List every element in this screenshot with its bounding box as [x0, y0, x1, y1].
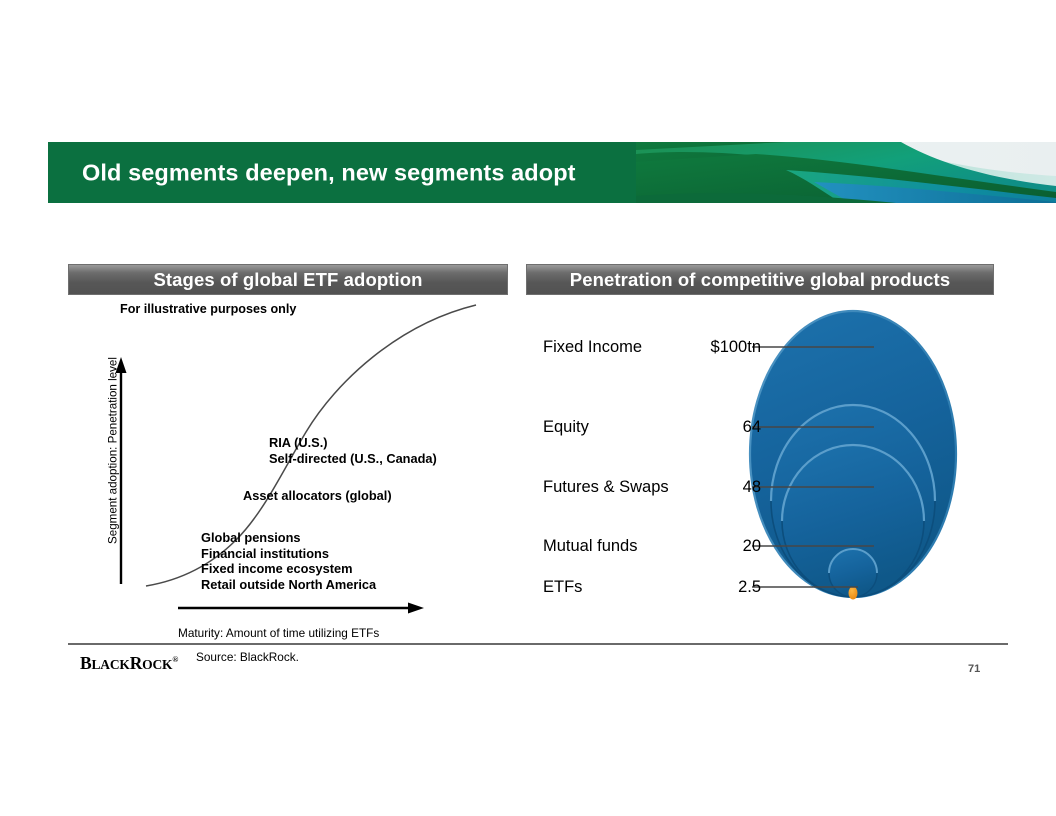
left-panel-title: Stages of global ETF adoption — [153, 269, 422, 291]
ellipse-mutual-funds-highlight — [829, 549, 877, 573]
ellipse-fixed-income — [750, 311, 956, 597]
stage-label: Financial institutions — [201, 546, 376, 562]
stage-group-early: Global pensions Financial institutions F… — [201, 530, 376, 592]
ellipse-etfs-marker — [849, 587, 858, 600]
logo-r: R — [130, 653, 142, 673]
page-title: Old segments deepen, new segments adopt — [82, 159, 576, 186]
stage-label: Retail outside North America — [201, 577, 376, 593]
product-row: Equity 64 — [543, 416, 761, 438]
registered-trademark-icon: ® — [172, 655, 178, 664]
stage-label: Fixed income ecosystem — [201, 561, 376, 577]
ellipse-equity — [771, 405, 935, 597]
product-row: Fixed Income $100tn — [543, 336, 761, 358]
x-axis-arrowhead — [408, 603, 424, 614]
x-axis-label: Maturity: Amount of time utilizing ETFs — [178, 626, 379, 640]
source-note: Source: BlackRock. — [196, 650, 299, 664]
product-penetration-chart: Fixed Income $100tn Equity 64 Futures & … — [526, 296, 996, 626]
product-value: 64 — [693, 418, 761, 437]
logo-b: B — [80, 653, 91, 673]
ellipse-equity-highlight — [771, 405, 935, 501]
ellipse-futures-swaps — [782, 445, 924, 597]
stage-label: Asset allocators (global) — [243, 488, 392, 504]
slide-title-banner: Old segments deepen, new segments adopt — [48, 142, 1056, 203]
banner-swoosh-decoration — [636, 142, 1056, 203]
page-number: 71 — [968, 663, 980, 675]
ellipse-equity-outline — [771, 405, 935, 597]
stages-of-adoption-chart: For illustrative purposes only Segment a… — [68, 296, 514, 646]
ellipse-mutual-funds-outline — [829, 549, 877, 597]
product-value: $100tn — [693, 338, 761, 357]
product-row: Futures & Swaps 48 — [543, 476, 761, 498]
ellipse-mutual-funds — [829, 549, 877, 597]
ellipse-futures-swaps-outline — [782, 445, 924, 597]
product-label: ETFs — [543, 578, 693, 597]
product-label: Equity — [543, 418, 693, 437]
product-value: 48 — [693, 478, 761, 497]
stage-group-mid: Asset allocators (global) — [243, 488, 392, 504]
product-label: Fixed Income — [543, 338, 693, 357]
product-value: 20 — [693, 537, 761, 556]
stage-group-late: RIA (U.S.) Self-directed (U.S., Canada) — [269, 435, 437, 466]
footer-divider — [68, 643, 1008, 645]
blackrock-logo: BLACKROCK® — [80, 653, 178, 674]
ellipse-fixed-income-outline — [750, 311, 956, 597]
right-panel-title: Penetration of competitive global produc… — [570, 269, 950, 291]
left-panel-header: Stages of global ETF adoption — [68, 264, 508, 295]
product-label: Mutual funds — [543, 537, 693, 556]
adoption-curve-and-axes — [68, 296, 514, 646]
stage-label: RIA (U.S.) — [269, 435, 437, 451]
ellipse-futures-swaps-highlight — [782, 445, 924, 521]
logo-ock: OCK — [142, 657, 172, 672]
logo-lack: LACK — [91, 657, 129, 672]
y-axis-label: Segment adoption: Penetration level — [107, 336, 120, 566]
product-value: 2.5 — [693, 578, 761, 597]
product-row: Mutual funds 20 — [543, 535, 761, 557]
stage-label: Global pensions — [201, 530, 376, 546]
right-panel-header: Penetration of competitive global produc… — [526, 264, 994, 295]
product-label: Futures & Swaps — [543, 478, 693, 497]
product-row: ETFs 2.5 — [543, 576, 761, 598]
stage-label: Self-directed (U.S., Canada) — [269, 451, 437, 467]
